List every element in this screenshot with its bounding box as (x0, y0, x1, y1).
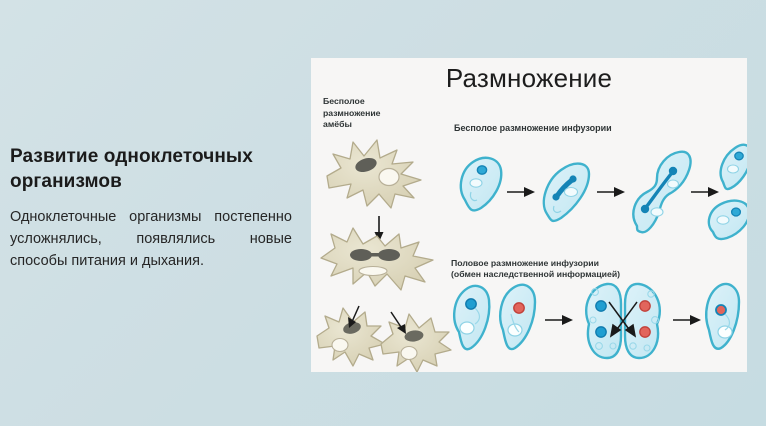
paramecium-asex-1 (461, 158, 501, 211)
arrow-sexual-2 (673, 315, 701, 325)
paramecium-sexual-row (441, 280, 747, 372)
slide-canvas: Развитие одноклеточных организмов Однокл… (0, 0, 766, 426)
caption-paramecium-sexual: Половое размножение инфузории (обмен нас… (451, 258, 620, 281)
paramecium-sex-1a (454, 286, 489, 349)
paramecium-asex-2 (544, 164, 589, 221)
paramecium-asexual-row (451, 140, 747, 252)
caption-amoeba-asexual: Бесполое размножение амёбы (323, 96, 403, 131)
slide-body-paragraph: Одноклеточные организмы постепенно услож… (10, 206, 292, 272)
page-title: Развитие одноклеточных организмов (10, 145, 292, 194)
paramecium-sex-1b (500, 285, 535, 349)
slide-text-column: Развитие одноклеточных организмов Однокл… (10, 145, 292, 272)
caption-paramecium-asexual: Бесполое размножение инфузории (454, 123, 612, 133)
arrow-asexual-2 (597, 187, 625, 197)
amoeba-stage-dividing (313, 218, 441, 298)
slide-body-text: Одноклеточные организмы постепенно услож… (10, 206, 292, 272)
arrow-asexual-1 (507, 187, 535, 197)
paramecium-asex-4b (709, 201, 747, 239)
caption-paramecium-sexual-line2: (обмен наследственной информацией) (451, 269, 620, 280)
arrow-asexual-3 (691, 187, 719, 197)
paramecium-asex-4a (721, 145, 747, 189)
caption-paramecium-sexual-line1: Половое размножение инфузории (451, 258, 620, 269)
arrow-sexual-1 (545, 315, 573, 325)
figure-title: Размножение (311, 63, 747, 94)
reproduction-figure-panel: Размножение Бесполое размножение амёбы Б… (311, 58, 747, 372)
paramecium-sex-conjugating-pair (586, 284, 660, 358)
amoeba-stage-single (317, 132, 435, 214)
paramecium-sex-3a (706, 284, 739, 349)
paramecium-asex-3 (633, 152, 690, 233)
